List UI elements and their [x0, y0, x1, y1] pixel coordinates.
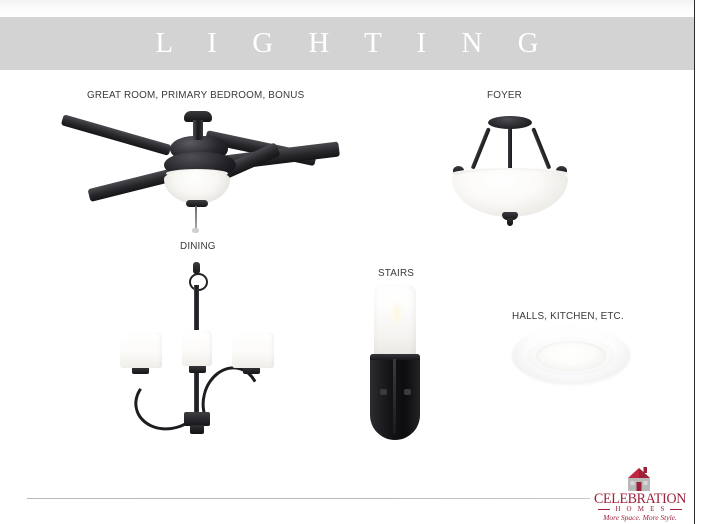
- caption-foyer: FOYER: [487, 89, 522, 101]
- page-title: L I G H T I N G: [141, 29, 552, 58]
- stairs-sconce-image: [362, 285, 428, 445]
- logo-rule-left: [598, 509, 610, 510]
- disk-light-icon: [512, 326, 630, 388]
- logo-subtitle: H O M E S: [613, 506, 666, 513]
- house-icon: [626, 467, 652, 492]
- caption-great-room: GREAT ROOM, PRIMARY BEDROOM, BONUS: [87, 89, 304, 101]
- logo-tagline: More Space. More Style.: [592, 514, 688, 522]
- halls-kitchen-light-image: [512, 326, 630, 388]
- caption-dining: DINING: [180, 240, 216, 252]
- caption-stairs: STAIRS: [378, 267, 414, 279]
- ceiling-fan-icon: [60, 108, 350, 233]
- semi-flush-mount-icon: [440, 116, 580, 228]
- celebration-homes-logo: CELEBRATION H O M E S More Space. More S…: [592, 466, 688, 520]
- footer-divider: [27, 498, 590, 499]
- dining-chandelier-image: [110, 262, 285, 442]
- wall-sconce-icon: [362, 285, 428, 445]
- top-gradient-strip: [0, 0, 694, 17]
- chandelier-icon: [110, 262, 285, 442]
- logo-rule-right: [670, 509, 682, 510]
- foyer-light-image: [440, 116, 580, 228]
- ceiling-fan-image: [60, 108, 350, 233]
- caption-halls-kitchen: HALLS, KITCHEN, ETC.: [512, 310, 624, 322]
- slide-page: L I G H T I N G GREAT ROOM, PRIMARY BEDR…: [0, 0, 694, 524]
- page-header-band: L I G H T I N G: [0, 17, 694, 70]
- logo-subtitle-row: H O M E S: [592, 506, 688, 513]
- page-right-gutter: [695, 0, 701, 524]
